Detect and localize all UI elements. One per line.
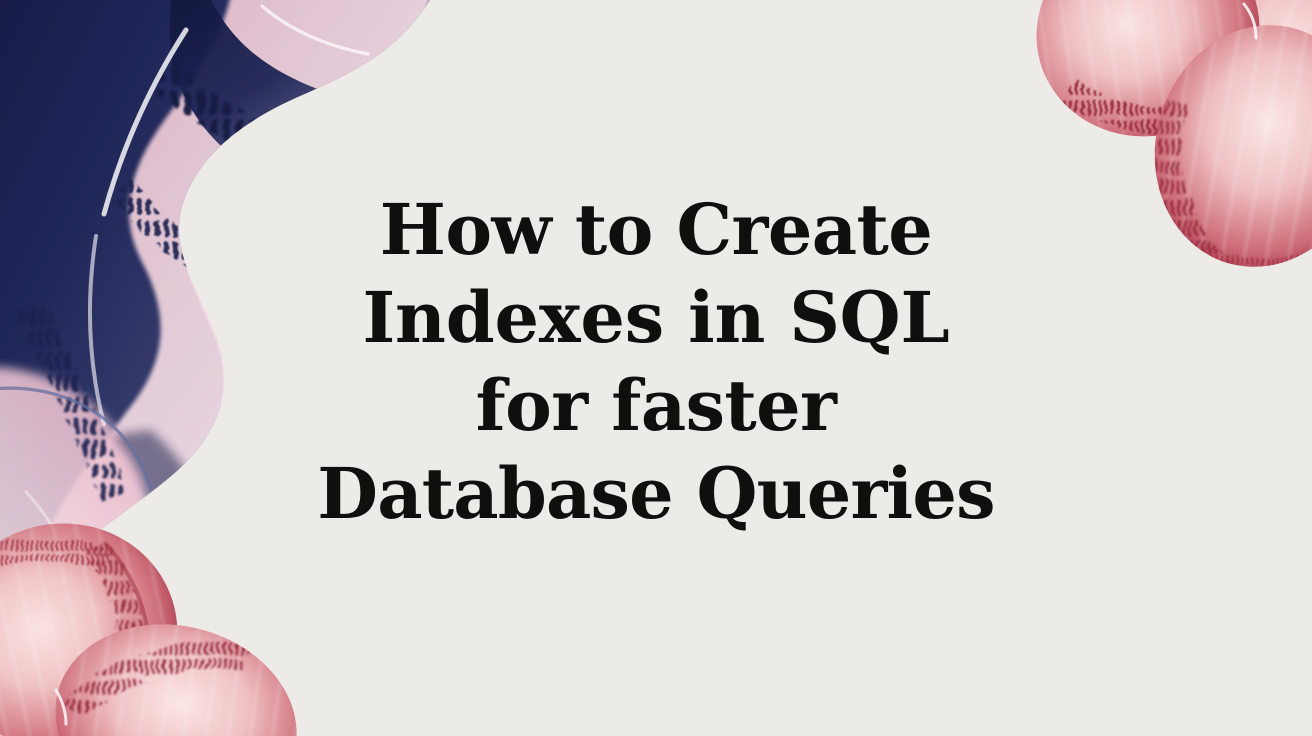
- title-card: How to Create Indexes in SQL for faster …: [0, 0, 1312, 736]
- headline-line-4: Database Queries: [0, 450, 1312, 538]
- headline-line-3: for faster: [0, 362, 1312, 450]
- headline-line-2: Indexes in SQL: [0, 274, 1312, 362]
- page-title: How to Create Indexes in SQL for faster …: [0, 186, 1312, 538]
- headline-line-1: How to Create: [0, 186, 1312, 274]
